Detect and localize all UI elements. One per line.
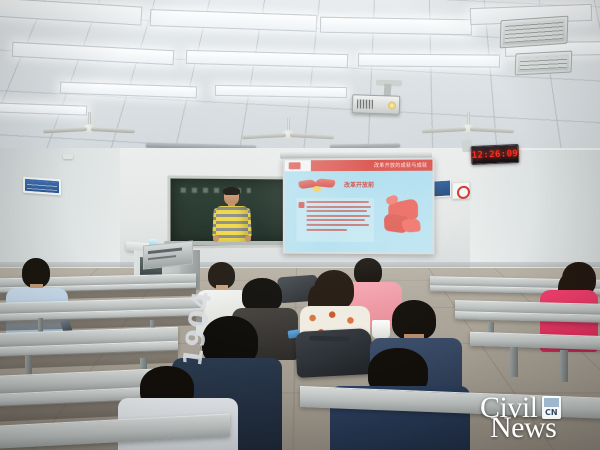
slide-body-text-box <box>297 198 374 242</box>
projection-screen: 改革开放的成就与成就 改革开放前 <box>283 158 435 255</box>
ceiling-projector <box>352 94 401 115</box>
wall-marker <box>63 154 73 159</box>
ceiling-fan-1 <box>88 112 90 114</box>
slide-text-lines <box>306 201 372 233</box>
presenter <box>214 188 250 250</box>
ac-vent-upper <box>500 16 569 49</box>
digital-wall-clock: 12:26:09 <box>471 144 520 165</box>
ceiling-fan-3 <box>467 112 469 114</box>
glasses-icon <box>225 194 238 198</box>
projector-lens <box>388 101 396 109</box>
ac-vent-lower <box>515 50 573 75</box>
clock-time-display: 12:26:09 <box>472 148 519 160</box>
slide-ribbon-decoration <box>299 178 339 192</box>
no-smoking-sign <box>452 182 470 200</box>
ceiling-light-panel <box>320 17 472 36</box>
slide-logo <box>289 162 301 169</box>
ceiling-light-panel <box>215 85 347 98</box>
wall-sign-left <box>23 177 61 196</box>
bench-leg <box>560 350 568 382</box>
wall-sign-right-blue <box>432 180 451 198</box>
ceiling-fan-2 <box>287 118 289 120</box>
presentation-slide: 改革开放的成就与成就 改革开放前 <box>285 160 433 253</box>
slide-header-bar: 改革开放的成就与成就 <box>285 160 433 172</box>
china-map-graphic <box>384 193 424 238</box>
presenter-striped-shirt <box>216 206 248 242</box>
ceiling-light-panel <box>358 53 500 67</box>
classroom-photo: 改革开放的成就与成就 改革开放前 <box>0 0 600 450</box>
slide-bullet-marker <box>299 202 305 208</box>
wall-trim <box>0 262 600 267</box>
slide-title: 改革开放前 <box>344 180 374 189</box>
bench-leg <box>510 347 518 377</box>
slide-header-title: 改革开放的成就与成就 <box>374 162 432 169</box>
